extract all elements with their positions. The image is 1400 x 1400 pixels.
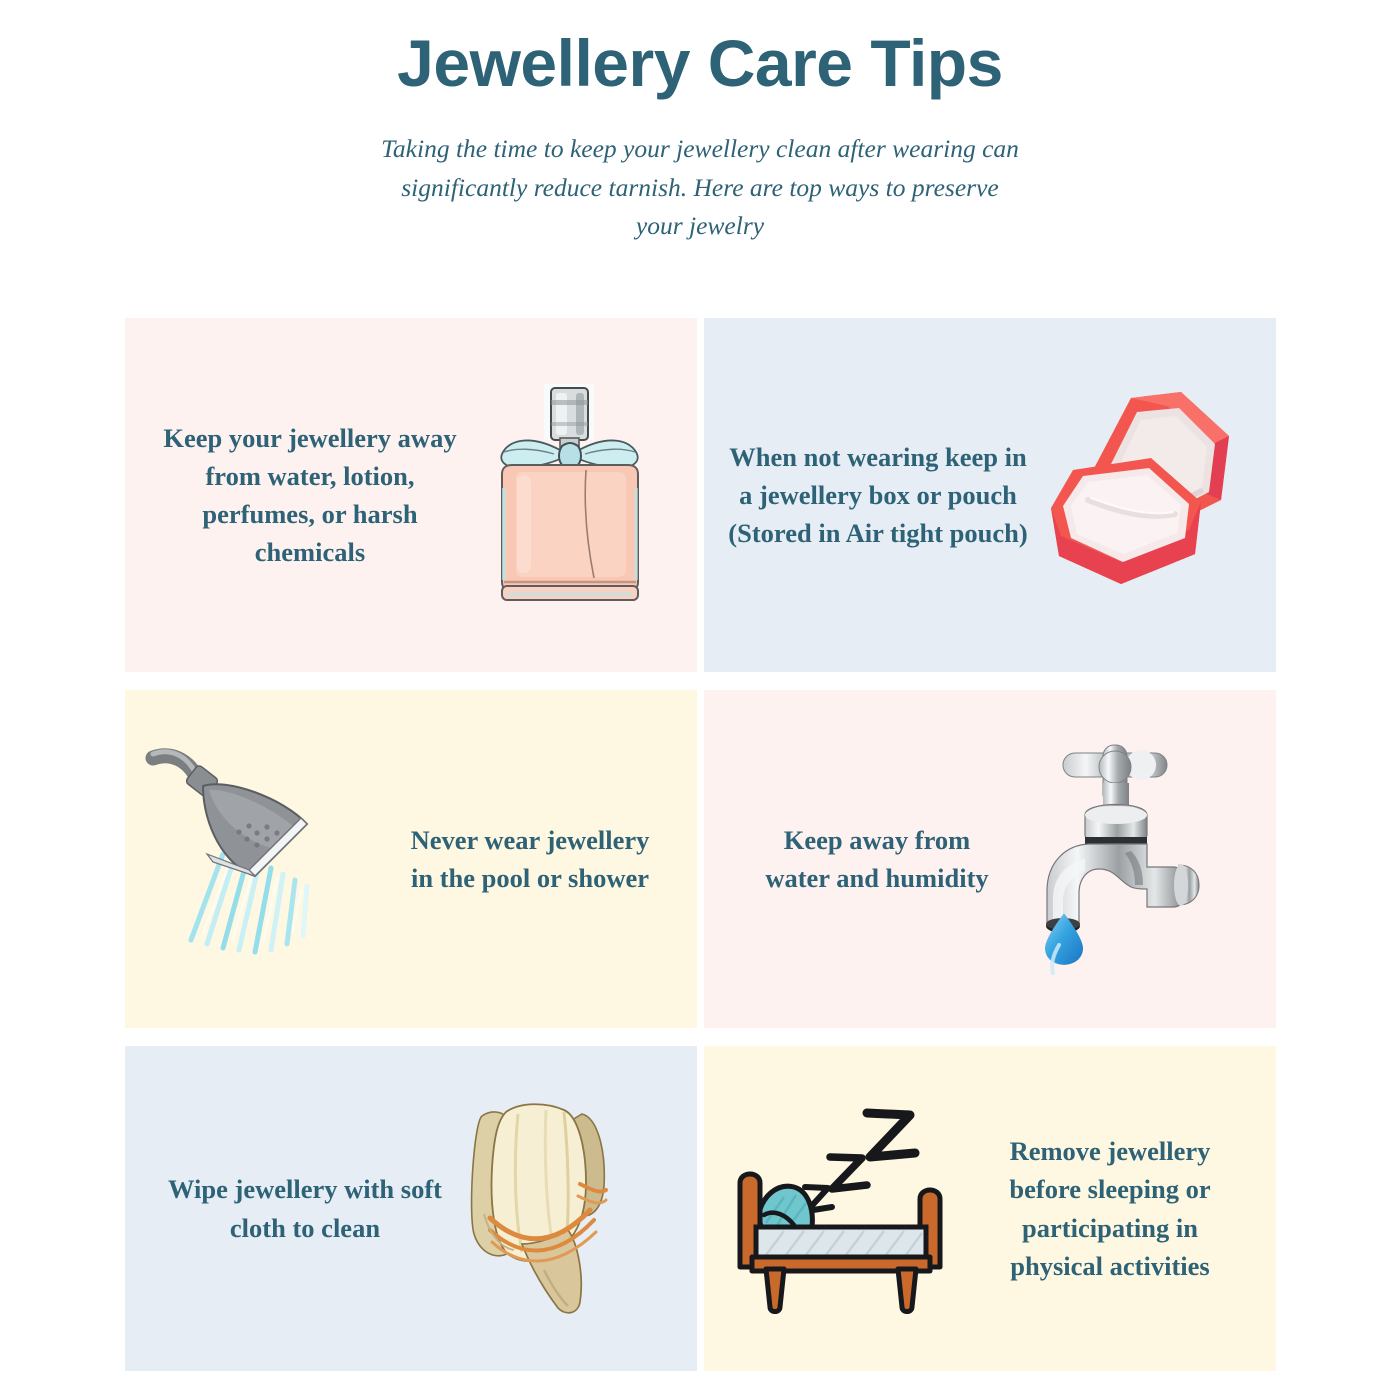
faucet-drip-icon	[1023, 739, 1213, 979]
tip-card-4-label: Keep away from water and humidity	[704, 821, 1004, 897]
tip-card-2-label: When not wearing keep in a jewellery box…	[704, 438, 1034, 552]
tip-card-4-illustration	[1004, 739, 1276, 979]
shower-head-icon	[151, 744, 381, 974]
tip-card-1-illustration	[465, 370, 697, 620]
tip-card-1: Keep your jewellery away from water, lot…	[125, 318, 697, 672]
tip-card-3: Never wear jewellery in the pool or show…	[125, 690, 697, 1028]
tips-grid: Keep your jewellery away from water, lot…	[125, 318, 1276, 1371]
tip-card-5: Wipe jewellery with soft cloth to clean	[125, 1046, 697, 1371]
header: Jewellery Care Tips Taking the time to k…	[0, 0, 1400, 246]
tip-card-4: Keep away from water and humidity	[704, 690, 1276, 1028]
sleeping-bed-icon	[722, 1099, 972, 1319]
infographic-page: Jewellery Care Tips Taking the time to k…	[0, 0, 1400, 1400]
tip-card-2: When not wearing keep in a jewellery box…	[704, 318, 1276, 672]
tip-card-6-label: Remove jewellery before sleeping or part…	[976, 1132, 1276, 1285]
tip-card-6: Remove jewellery before sleeping or part…	[704, 1046, 1276, 1371]
tip-card-3-label: Never wear jewellery in the pool or show…	[397, 821, 697, 897]
perfume-bottle-icon	[468, 370, 668, 620]
ring-box-icon	[1043, 378, 1258, 603]
tip-card-6-illustration	[704, 1099, 976, 1319]
page-subtitle: Taking the time to keep your jewellery c…	[380, 102, 1020, 246]
tip-card-1-label: Keep your jewellery away from water, lot…	[125, 419, 465, 572]
polishing-cloth-icon	[460, 1094, 630, 1324]
tip-card-2-illustration	[1034, 378, 1276, 613]
tip-card-5-illustration	[445, 1094, 697, 1324]
tip-card-3-illustration	[125, 744, 397, 974]
tip-card-5-label: Wipe jewellery with soft cloth to clean	[125, 1170, 445, 1246]
page-title: Jewellery Care Tips	[0, 0, 1400, 102]
